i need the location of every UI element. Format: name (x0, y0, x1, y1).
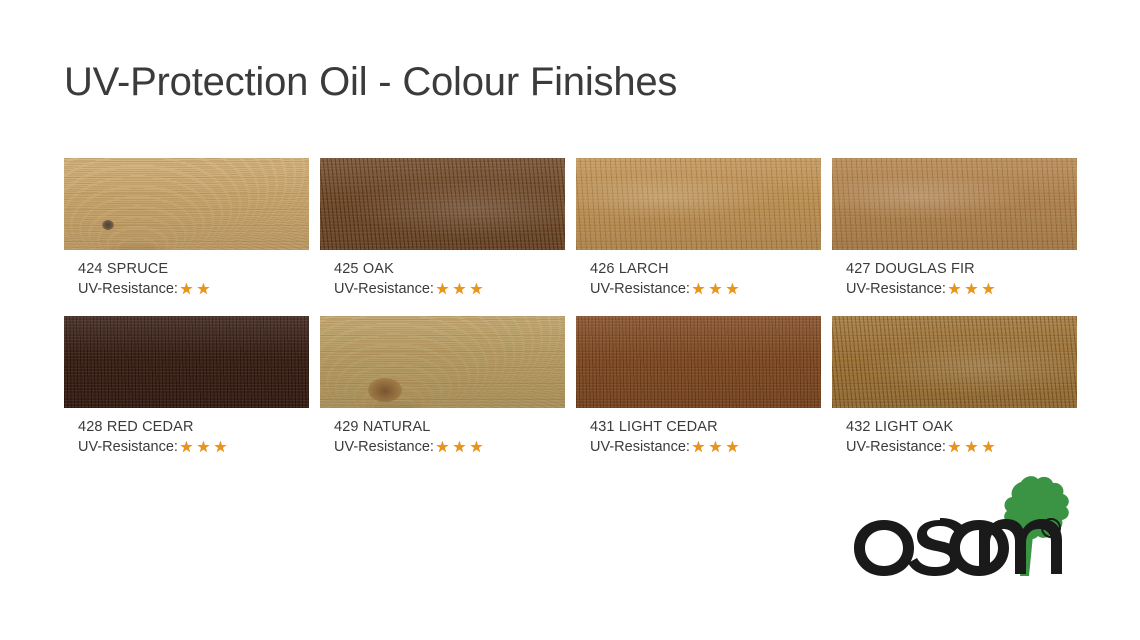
swatch-caption: 426 LARCHUV-Resistance: (576, 260, 821, 298)
wood-swatch-5[interactable] (64, 316, 309, 408)
uv-resistance-row: UV-Resistance: (846, 280, 1077, 298)
swatch-cell: 425 OAKUV-Resistance: (320, 158, 565, 298)
wood-grain-texture (320, 158, 565, 250)
star-icon (965, 441, 978, 454)
uv-resistance-label: UV-Resistance: (334, 280, 434, 298)
uv-resistance-label: UV-Resistance: (846, 280, 946, 298)
uv-resistance-label: UV-Resistance: (334, 438, 434, 456)
star-icon (180, 283, 193, 296)
wood-grain-texture (64, 158, 309, 250)
osmo-logo: R (848, 470, 1080, 580)
star-icon (982, 441, 995, 454)
swatch-caption: 429 NATURALUV-Resistance: (320, 418, 565, 456)
swatch-name: 429 NATURAL (334, 418, 565, 436)
wood-swatch-7[interactable] (576, 316, 821, 408)
uv-resistance-stars (948, 441, 995, 454)
uv-resistance-row: UV-Resistance: (78, 438, 309, 456)
star-icon (982, 283, 995, 296)
swatch-name: 432 LIGHT OAK (846, 418, 1077, 436)
uv-resistance-label: UV-Resistance: (78, 438, 178, 456)
wood-grain-texture (64, 316, 309, 408)
wood-swatch-3[interactable] (576, 158, 821, 250)
star-icon (692, 441, 705, 454)
swatch-cell: 431 LIGHT CEDARUV-Resistance: (576, 316, 821, 456)
wood-grain-texture (320, 316, 565, 408)
uv-resistance-label: UV-Resistance: (846, 438, 946, 456)
uv-resistance-row: UV-Resistance: (334, 280, 565, 298)
star-icon (726, 441, 739, 454)
wood-grain-texture (576, 316, 821, 408)
star-icon (709, 441, 722, 454)
uv-resistance-label: UV-Resistance: (590, 438, 690, 456)
uv-resistance-stars (692, 283, 739, 296)
star-icon (436, 441, 449, 454)
swatch-cell: 426 LARCHUV-Resistance: (576, 158, 821, 298)
star-icon (470, 283, 483, 296)
star-icon (965, 283, 978, 296)
uv-resistance-stars (180, 283, 210, 296)
swatch-caption: 431 LIGHT CEDARUV-Resistance: (576, 418, 821, 456)
svg-text:R: R (1047, 523, 1055, 535)
swatch-name: 425 OAK (334, 260, 565, 278)
star-icon (214, 441, 227, 454)
wood-swatch-8[interactable] (832, 316, 1077, 408)
star-icon (948, 283, 961, 296)
uv-resistance-stars (436, 283, 483, 296)
star-icon (197, 283, 210, 296)
wood-swatch-6[interactable] (320, 316, 565, 408)
star-icon (453, 283, 466, 296)
wood-swatch-1[interactable] (64, 158, 309, 250)
wood-knot (368, 378, 402, 402)
star-icon (453, 441, 466, 454)
uv-resistance-stars (180, 441, 227, 454)
star-icon (726, 283, 739, 296)
swatch-name: 427 DOUGLAS FIR (846, 260, 1077, 278)
uv-resistance-stars (692, 441, 739, 454)
uv-resistance-stars (436, 441, 483, 454)
swatch-cell: 428 RED CEDARUV-Resistance: (64, 316, 309, 456)
swatch-cell: 429 NATURALUV-Resistance: (320, 316, 565, 456)
uv-resistance-label: UV-Resistance: (78, 280, 178, 298)
slide-canvas: UV-Protection Oil - Colour Finishes 424 … (0, 0, 1140, 640)
swatch-name: 431 LIGHT CEDAR (590, 418, 821, 436)
uv-resistance-row: UV-Resistance: (78, 280, 309, 298)
star-icon (180, 441, 193, 454)
uv-resistance-row: UV-Resistance: (590, 438, 821, 456)
swatch-caption: 428 RED CEDARUV-Resistance: (64, 418, 309, 456)
swatch-cell: 424 SPRUCEUV-Resistance: (64, 158, 309, 298)
uv-resistance-label: UV-Resistance: (590, 280, 690, 298)
star-icon (470, 441, 483, 454)
wood-knot (102, 220, 114, 230)
star-icon (948, 441, 961, 454)
swatch-caption: 424 SPRUCEUV-Resistance: (64, 260, 309, 298)
swatch-cell: 432 LIGHT OAKUV-Resistance: (832, 316, 1077, 456)
swatch-name: 428 RED CEDAR (78, 418, 309, 436)
colour-finish-grid: 424 SPRUCEUV-Resistance:425 OAKUV-Resist… (64, 158, 1076, 456)
wood-grain-texture (832, 158, 1077, 250)
wood-swatch-2[interactable] (320, 158, 565, 250)
page-title: UV-Protection Oil - Colour Finishes (64, 60, 677, 105)
swatch-name: 426 LARCH (590, 260, 821, 278)
star-icon (436, 283, 449, 296)
swatch-caption: 432 LIGHT OAKUV-Resistance: (832, 418, 1077, 456)
wood-grain-texture (576, 158, 821, 250)
uv-resistance-row: UV-Resistance: (590, 280, 821, 298)
star-icon (692, 283, 705, 296)
swatch-caption: 427 DOUGLAS FIRUV-Resistance: (832, 260, 1077, 298)
uv-resistance-row: UV-Resistance: (334, 438, 565, 456)
wood-grain-texture (832, 316, 1077, 408)
star-icon (197, 441, 210, 454)
swatch-caption: 425 OAKUV-Resistance: (320, 260, 565, 298)
swatch-name: 424 SPRUCE (78, 260, 309, 278)
swatch-cell: 427 DOUGLAS FIRUV-Resistance: (832, 158, 1077, 298)
star-icon (709, 283, 722, 296)
wood-swatch-4[interactable] (832, 158, 1077, 250)
uv-resistance-stars (948, 283, 995, 296)
uv-resistance-row: UV-Resistance: (846, 438, 1077, 456)
